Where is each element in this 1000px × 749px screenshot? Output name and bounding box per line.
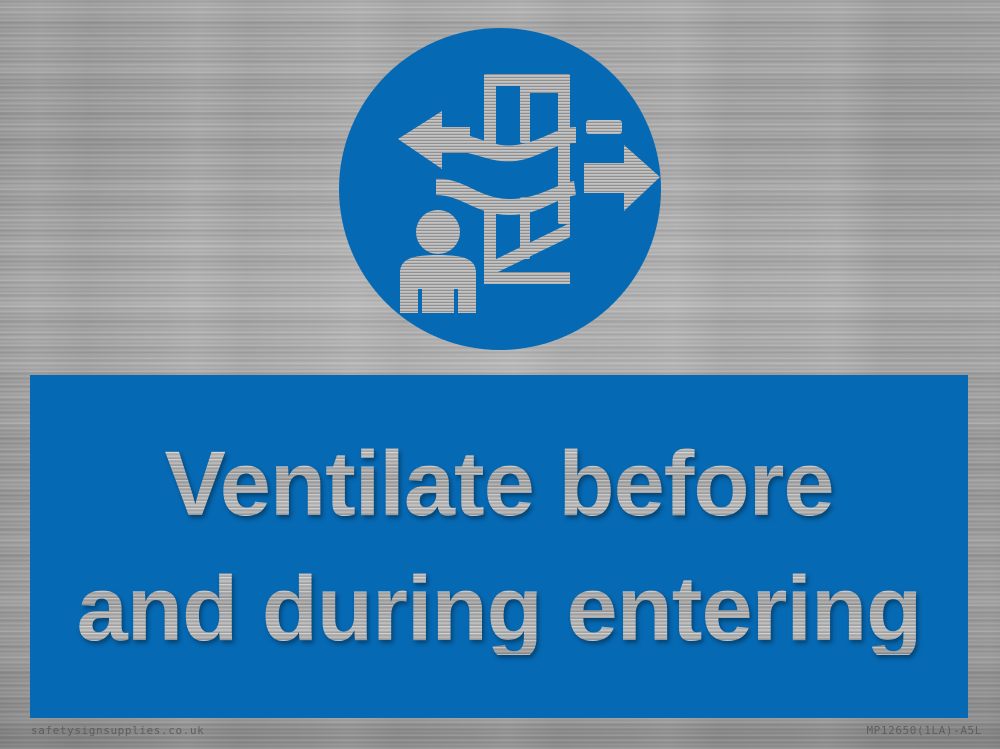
- message-line-1: Ventilate before: [30, 438, 968, 530]
- door-panel-top-rail: [520, 83, 568, 93]
- door-frame-left-post-upper: [484, 74, 496, 146]
- door-frame-right-post: [558, 74, 570, 224]
- product-code: MP12650(1LA)-A5L: [866, 724, 982, 737]
- arrow-right-dash: [586, 120, 622, 134]
- ventilate-pictogram: [338, 27, 662, 351]
- message-banner: Ventilate before and during entering: [30, 375, 968, 718]
- supplier-website: safetysignsupplies.co.uk: [31, 724, 204, 737]
- safety-sign: Ventilate before and during entering saf…: [0, 0, 1000, 749]
- person-head: [416, 210, 460, 254]
- person-torso-fill: [400, 271, 476, 289]
- message-line-2: and during entering: [30, 563, 968, 655]
